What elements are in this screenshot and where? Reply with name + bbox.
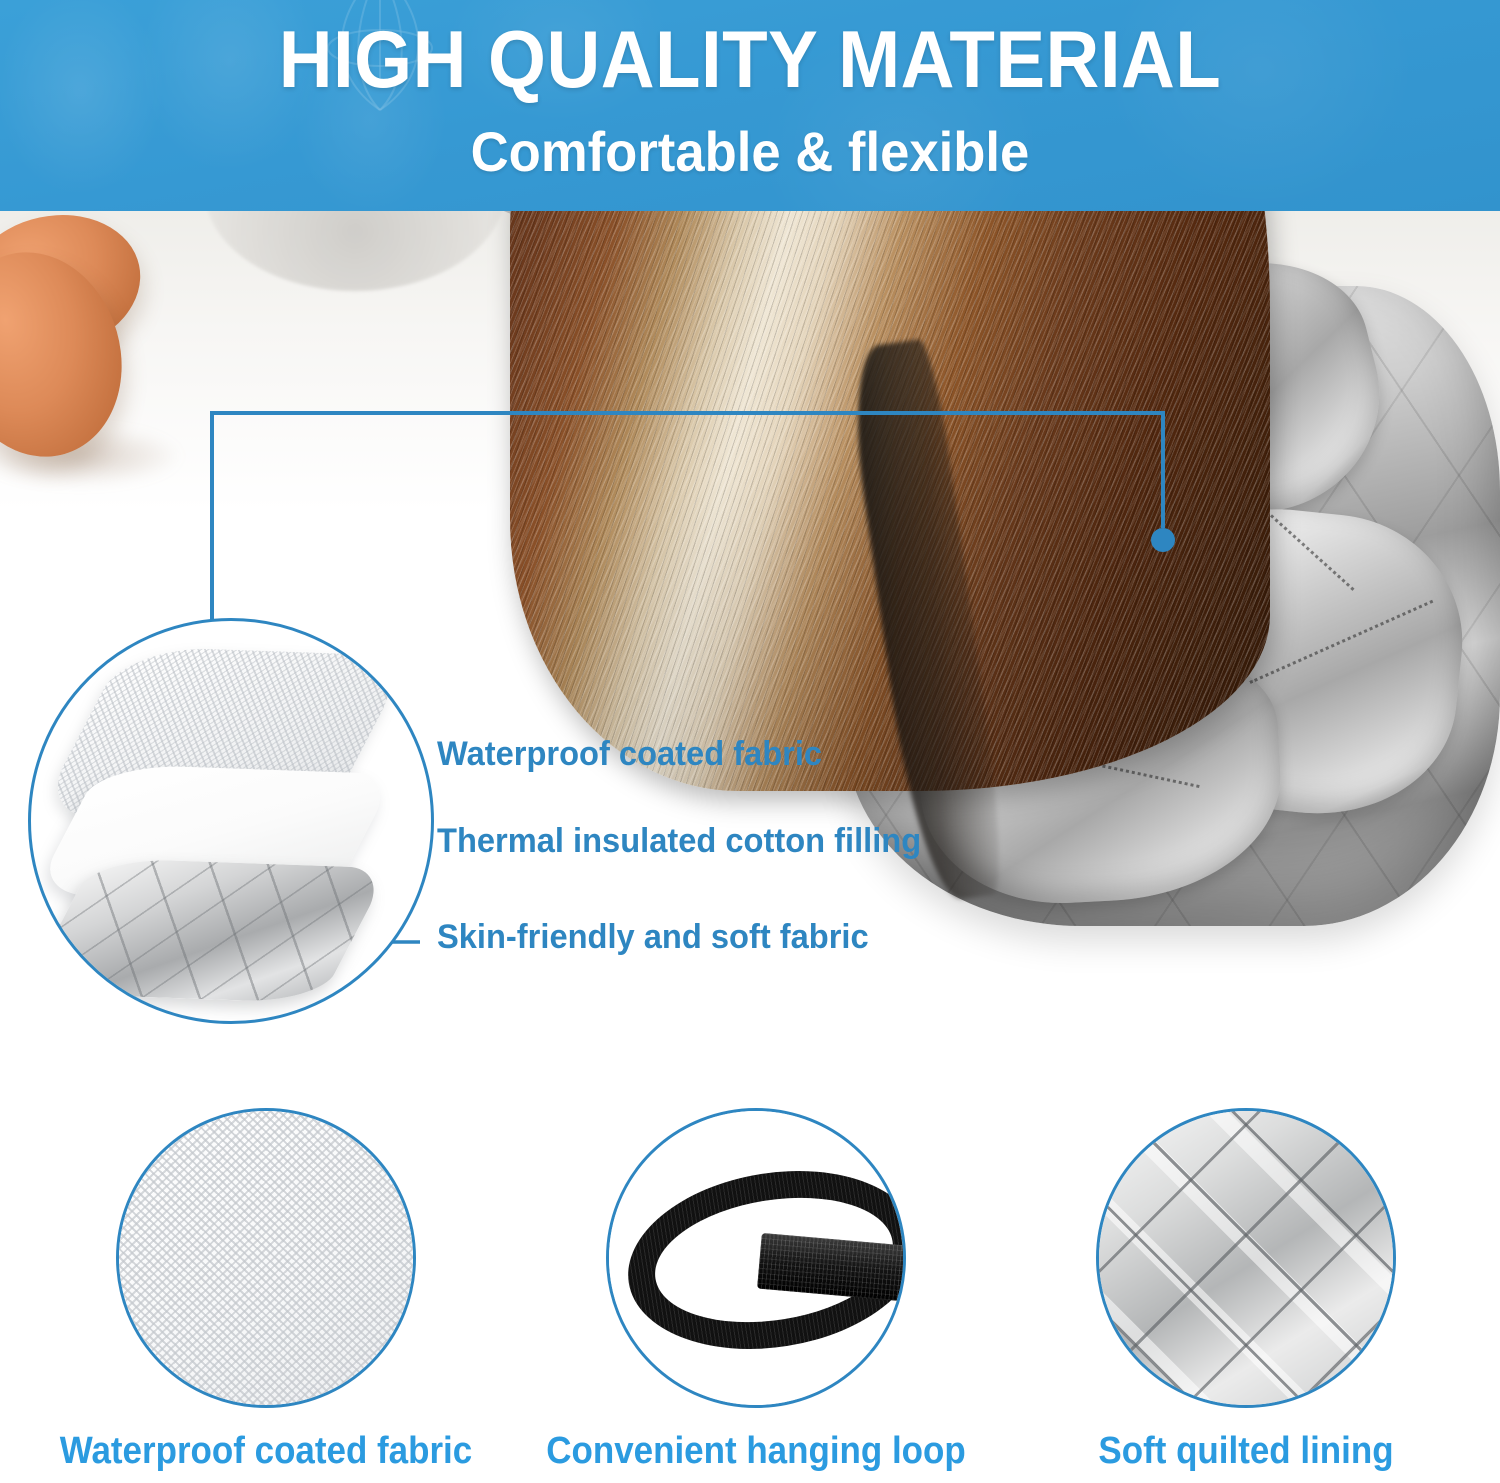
material-layers-detail-circle (28, 618, 434, 1024)
banner-subtitle: Comfortable & flexible (45, 118, 1455, 186)
infographic-page: HIGH QUALITY MATERIAL Comfortable & flex… (0, 0, 1500, 1483)
header-banner: HIGH QUALITY MATERIAL Comfortable & flex… (0, 0, 1500, 211)
callout-label-thermal: Thermal insulated cotton filling (437, 822, 921, 861)
feature-circle (1096, 1108, 1396, 1408)
feature-caption-1: Waterproof coated fabric (27, 1430, 505, 1473)
feature-circle (116, 1108, 416, 1408)
feature-circle (606, 1108, 906, 1408)
oven-mitt (490, 211, 1500, 1011)
banner-title: HIGH QUALITY MATERIAL (60, 12, 1440, 108)
feature-hanging-loop (606, 1108, 906, 1408)
feature-caption-3: Soft quilted lining (1007, 1430, 1485, 1473)
feature-quilted-lining (1096, 1108, 1396, 1408)
silver-diamond-quilt-icon (1096, 1108, 1396, 1408)
callout-label-waterproof: Waterproof coated fabric (437, 735, 822, 774)
feature-caption-2: Convenient hanging loop (517, 1430, 995, 1473)
feature-waterproof-fabric (116, 1108, 416, 1408)
callout-label-skin-friendly: Skin-friendly and soft fabric (437, 918, 869, 957)
woven-fabric-texture-icon (116, 1108, 416, 1408)
